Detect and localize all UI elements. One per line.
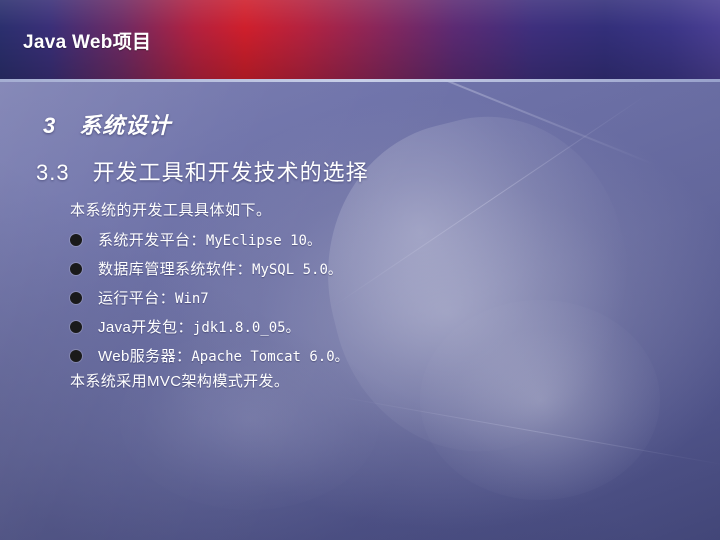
closing-paragraph: 本系统采用MVC架构模式开发。 xyxy=(70,370,289,391)
list-item-label: 运行平台： xyxy=(98,290,175,307)
lead-paragraph: 本系统的开发工具具体如下。 xyxy=(70,199,272,220)
bullet-dot-icon xyxy=(70,263,82,275)
list-item-text: 系统开发平台：MyEclipse 10。 xyxy=(98,229,321,250)
bullet-list: 系统开发平台：MyEclipse 10。 数据库管理系统软件：MySQL 5.0… xyxy=(70,225,670,370)
list-item: Java开发包：jdk1.8.0_05。 xyxy=(70,312,670,341)
bullet-dot-icon xyxy=(70,234,82,246)
list-item: 系统开发平台：MyEclipse 10。 xyxy=(70,225,670,254)
list-item-label: Java开发包： xyxy=(98,319,193,336)
slide-header-title: Java Web项目 xyxy=(23,27,151,54)
list-item-value: Apache Tomcat 6.0。 xyxy=(191,349,348,365)
subsection-title: 3.3 开发工具和开发技术的选择 xyxy=(36,155,369,187)
list-item-value: MySQL 5.0。 xyxy=(252,262,342,278)
list-item-label: Web服务器： xyxy=(98,348,191,365)
list-item-label: 数据库管理系统软件： xyxy=(98,261,252,278)
list-item-value: Win7 xyxy=(175,291,209,307)
section-title: 3 系统设计 xyxy=(43,108,171,140)
bullet-dot-icon xyxy=(70,350,82,362)
list-item-text: Web服务器：Apache Tomcat 6.0。 xyxy=(98,345,349,366)
list-item-text: Java开发包：jdk1.8.0_05。 xyxy=(98,316,300,337)
list-item-text: 运行平台：Win7 xyxy=(98,287,209,308)
list-item-text: 数据库管理系统软件：MySQL 5.0。 xyxy=(98,258,342,279)
list-item-value: jdk1.8.0_05。 xyxy=(193,320,300,336)
bullet-dot-icon xyxy=(70,321,82,333)
bullet-dot-icon xyxy=(70,292,82,304)
list-item: 运行平台：Win7 xyxy=(70,283,670,312)
list-item-label: 系统开发平台： xyxy=(98,232,206,249)
list-item-value: MyEclipse 10。 xyxy=(206,233,321,249)
list-item: 数据库管理系统软件：MySQL 5.0。 xyxy=(70,254,670,283)
slide-content: 3 系统设计 3.3 开发工具和开发技术的选择 本系统的开发工具具体如下。 系统… xyxy=(0,79,720,540)
slide-canvas: Java Web项目 3 系统设计 3.3 开发工具和开发技术的选择 本系统的开… xyxy=(0,0,720,540)
list-item: Web服务器：Apache Tomcat 6.0。 xyxy=(70,341,670,370)
